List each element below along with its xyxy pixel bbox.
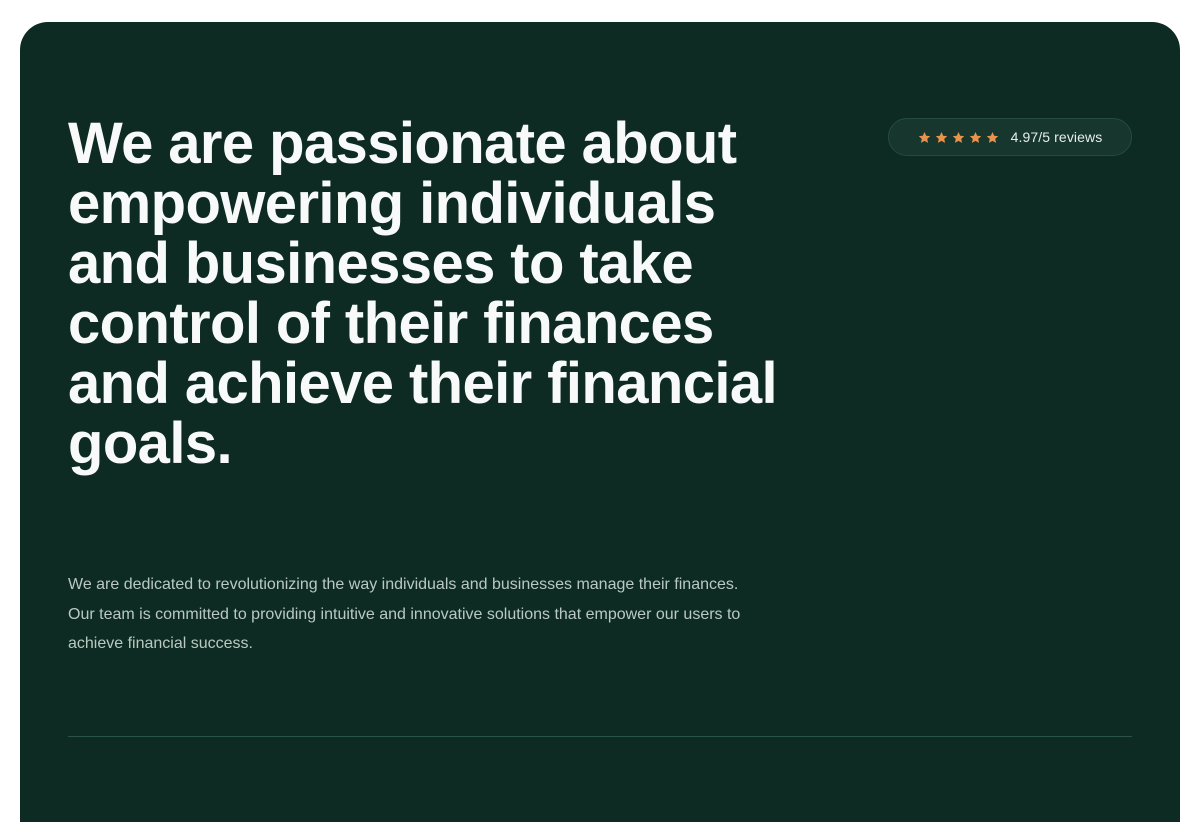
star-rating	[918, 131, 999, 144]
rating-label: 4.97/5 reviews	[1011, 129, 1103, 145]
rating-badge[interactable]: 4.97/5 reviews	[888, 118, 1132, 156]
star-icon	[952, 131, 965, 144]
star-icon	[918, 131, 931, 144]
star-icon	[969, 131, 982, 144]
page-title: We are passionate about empowering indiv…	[68, 114, 780, 474]
hero-description: We are dedicated to revolutionizing the …	[68, 570, 758, 659]
hero-panel: We are passionate about empowering indiv…	[20, 22, 1180, 822]
section-divider	[68, 736, 1132, 737]
star-icon	[986, 131, 999, 144]
star-icon	[935, 131, 948, 144]
